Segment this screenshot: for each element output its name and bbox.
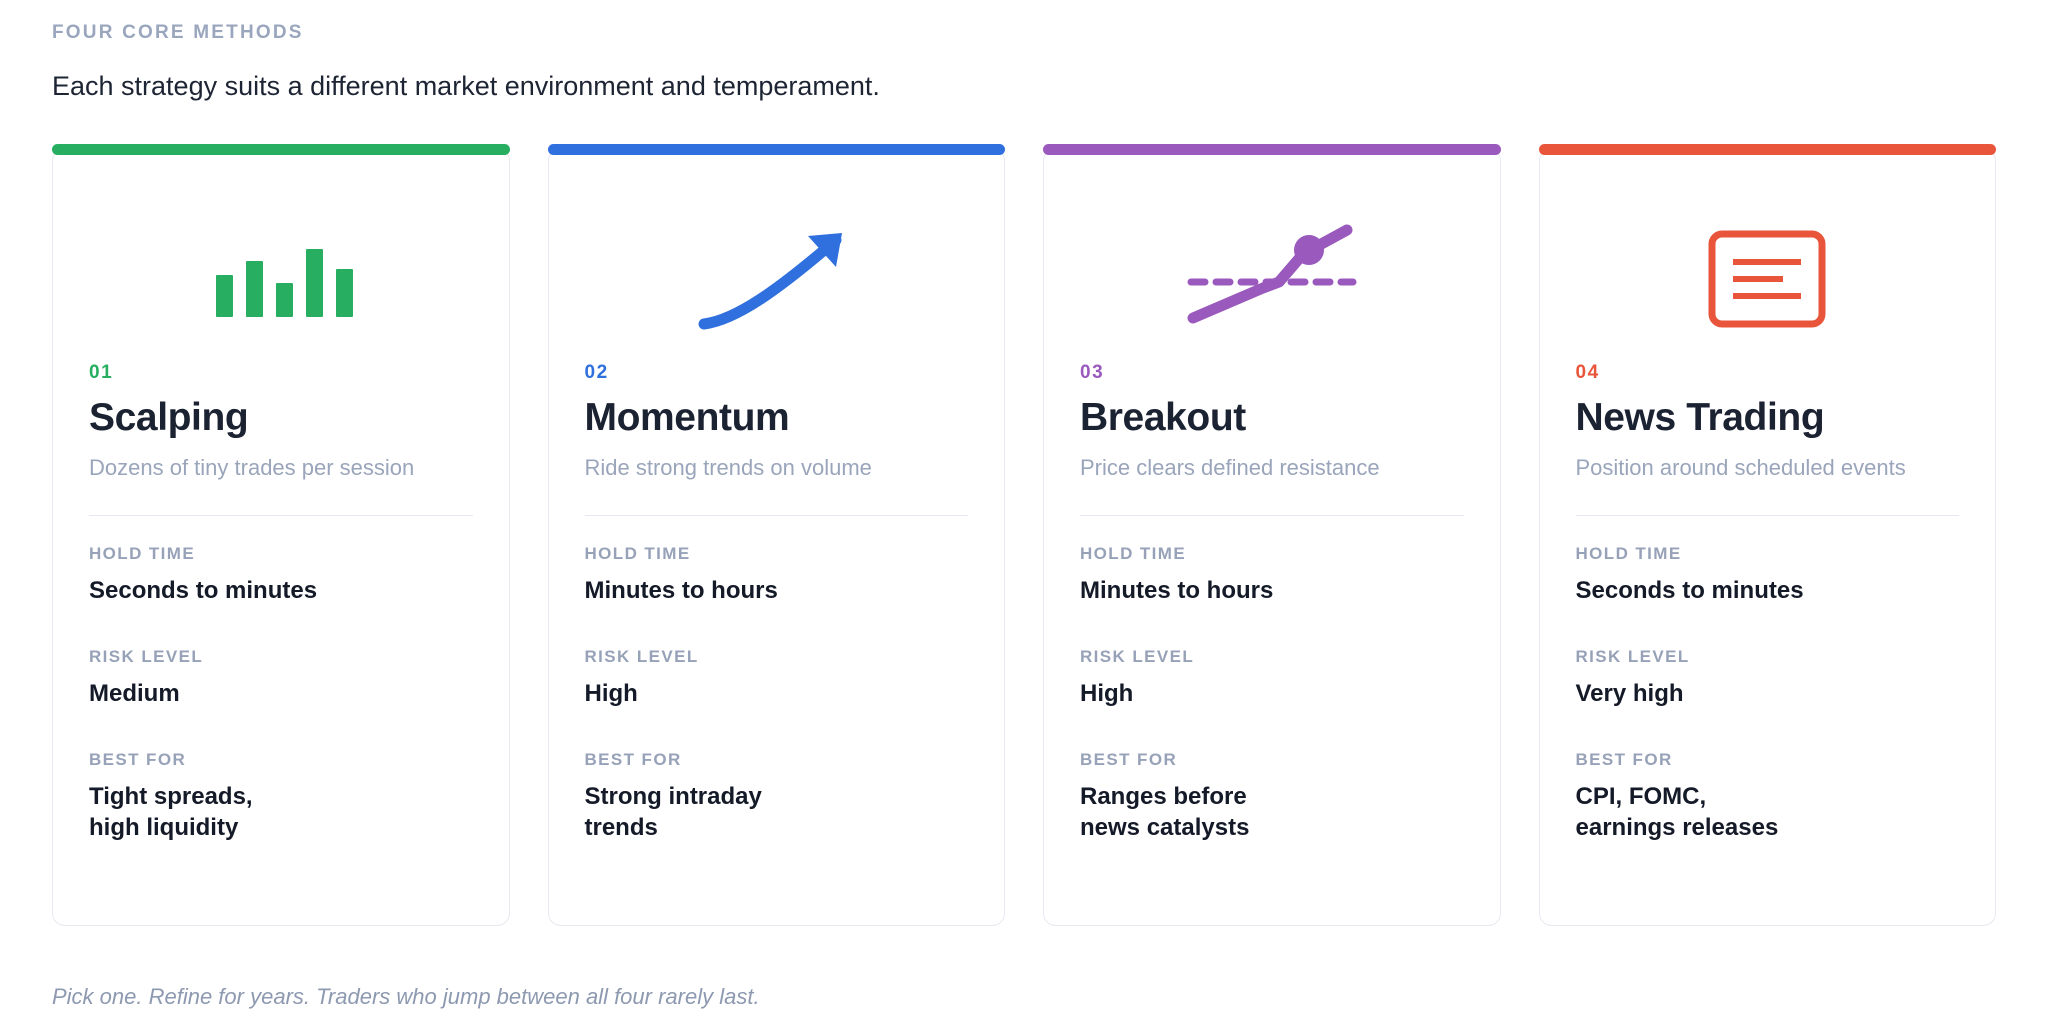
card-title: Scalping bbox=[89, 396, 473, 440]
meta-value-risk-level: High bbox=[585, 678, 969, 710]
method-card-breakout[interactable]: 03 Breakout Price clears defined resista… bbox=[1043, 148, 1501, 926]
meta-hold-time: HOLD TIME Minutes to hours bbox=[1080, 544, 1464, 606]
meta-label-hold-time: HOLD TIME bbox=[585, 544, 969, 564]
trend-arrow-icon bbox=[585, 195, 969, 363]
meta-label-risk-level: RISK LEVEL bbox=[1080, 647, 1464, 667]
meta-label-best-for: BEST FOR bbox=[585, 750, 969, 770]
method-card-grid: 01 Scalping Dozens of tiny trades per se… bbox=[52, 148, 1996, 926]
meta-value-hold-time: Seconds to minutes bbox=[89, 575, 473, 607]
card-accent-bar bbox=[1539, 144, 1997, 155]
method-card-news-trading[interactable]: 04 News Trading Position around schedule… bbox=[1539, 148, 1997, 926]
bar-chart-icon bbox=[89, 195, 473, 363]
section-eyebrow: FOUR CORE METHODS bbox=[52, 22, 1996, 45]
meta-best-for: BEST FOR CPI, FOMC, earnings releases bbox=[1576, 750, 1960, 844]
card-number: 02 bbox=[585, 363, 969, 382]
section-lede: Each strategy suits a different market e… bbox=[52, 69, 1996, 104]
meta-value-best-for: CPI, FOMC, earnings releases bbox=[1576, 781, 1960, 844]
card-number: 04 bbox=[1576, 363, 1960, 382]
card-accent-bar bbox=[548, 144, 1006, 155]
meta-value-risk-level: Medium bbox=[89, 678, 473, 710]
card-divider bbox=[89, 515, 473, 516]
meta-value-best-for: Strong intraday trends bbox=[585, 781, 969, 844]
breakout-line-icon bbox=[1080, 195, 1464, 363]
method-card-momentum[interactable]: 02 Momentum Ride strong trends on volume… bbox=[548, 148, 1006, 926]
card-divider bbox=[1576, 515, 1960, 516]
card-divider bbox=[1080, 515, 1464, 516]
card-tagline: Dozens of tiny trades per session bbox=[89, 454, 473, 483]
meta-hold-time: HOLD TIME Seconds to minutes bbox=[1576, 544, 1960, 606]
meta-label-hold-time: HOLD TIME bbox=[1576, 544, 1960, 564]
meta-best-for: BEST FOR Strong intraday trends bbox=[585, 750, 969, 844]
meta-value-hold-time: Minutes to hours bbox=[585, 575, 969, 607]
card-tagline: Price clears defined resistance bbox=[1080, 454, 1464, 483]
card-divider bbox=[585, 515, 969, 516]
meta-label-hold-time: HOLD TIME bbox=[1080, 544, 1464, 564]
card-title: News Trading bbox=[1576, 396, 1960, 440]
meta-risk-level: RISK LEVEL High bbox=[585, 647, 969, 709]
meta-value-risk-level: Very high bbox=[1576, 678, 1960, 710]
meta-value-best-for: Tight spreads, high liquidity bbox=[89, 781, 473, 844]
card-title: Breakout bbox=[1080, 396, 1464, 440]
meta-value-risk-level: High bbox=[1080, 678, 1464, 710]
card-accent-bar bbox=[52, 144, 510, 155]
meta-risk-level: RISK LEVEL High bbox=[1080, 647, 1464, 709]
meta-risk-level: RISK LEVEL Very high bbox=[1576, 647, 1960, 709]
page-footnote: Pick one. Refine for years. Traders who … bbox=[52, 983, 760, 1012]
meta-hold-time: HOLD TIME Seconds to minutes bbox=[89, 544, 473, 606]
meta-best-for: BEST FOR Ranges before news catalysts bbox=[1080, 750, 1464, 844]
meta-value-best-for: Ranges before news catalysts bbox=[1080, 781, 1464, 844]
meta-value-hold-time: Minutes to hours bbox=[1080, 575, 1464, 607]
method-card-scalping[interactable]: 01 Scalping Dozens of tiny trades per se… bbox=[52, 148, 510, 926]
four-core-methods-page: FOUR CORE METHODS Each strategy suits a … bbox=[0, 0, 2048, 1032]
meta-hold-time: HOLD TIME Minutes to hours bbox=[585, 544, 969, 606]
card-tagline: Ride strong trends on volume bbox=[585, 454, 969, 483]
meta-best-for: BEST FOR Tight spreads, high liquidity bbox=[89, 750, 473, 844]
meta-label-risk-level: RISK LEVEL bbox=[1576, 647, 1960, 667]
card-number: 01 bbox=[89, 363, 473, 382]
meta-risk-level: RISK LEVEL Medium bbox=[89, 647, 473, 709]
card-title: Momentum bbox=[585, 396, 969, 440]
meta-value-hold-time: Seconds to minutes bbox=[1576, 575, 1960, 607]
meta-label-risk-level: RISK LEVEL bbox=[89, 647, 473, 667]
meta-label-risk-level: RISK LEVEL bbox=[585, 647, 969, 667]
meta-label-best-for: BEST FOR bbox=[1576, 750, 1960, 770]
card-tagline: Position around scheduled events bbox=[1576, 454, 1960, 483]
news-document-icon bbox=[1576, 195, 1960, 363]
meta-label-hold-time: HOLD TIME bbox=[89, 544, 473, 564]
card-accent-bar bbox=[1043, 144, 1501, 155]
card-number: 03 bbox=[1080, 363, 1464, 382]
meta-label-best-for: BEST FOR bbox=[1080, 750, 1464, 770]
meta-label-best-for: BEST FOR bbox=[89, 750, 473, 770]
